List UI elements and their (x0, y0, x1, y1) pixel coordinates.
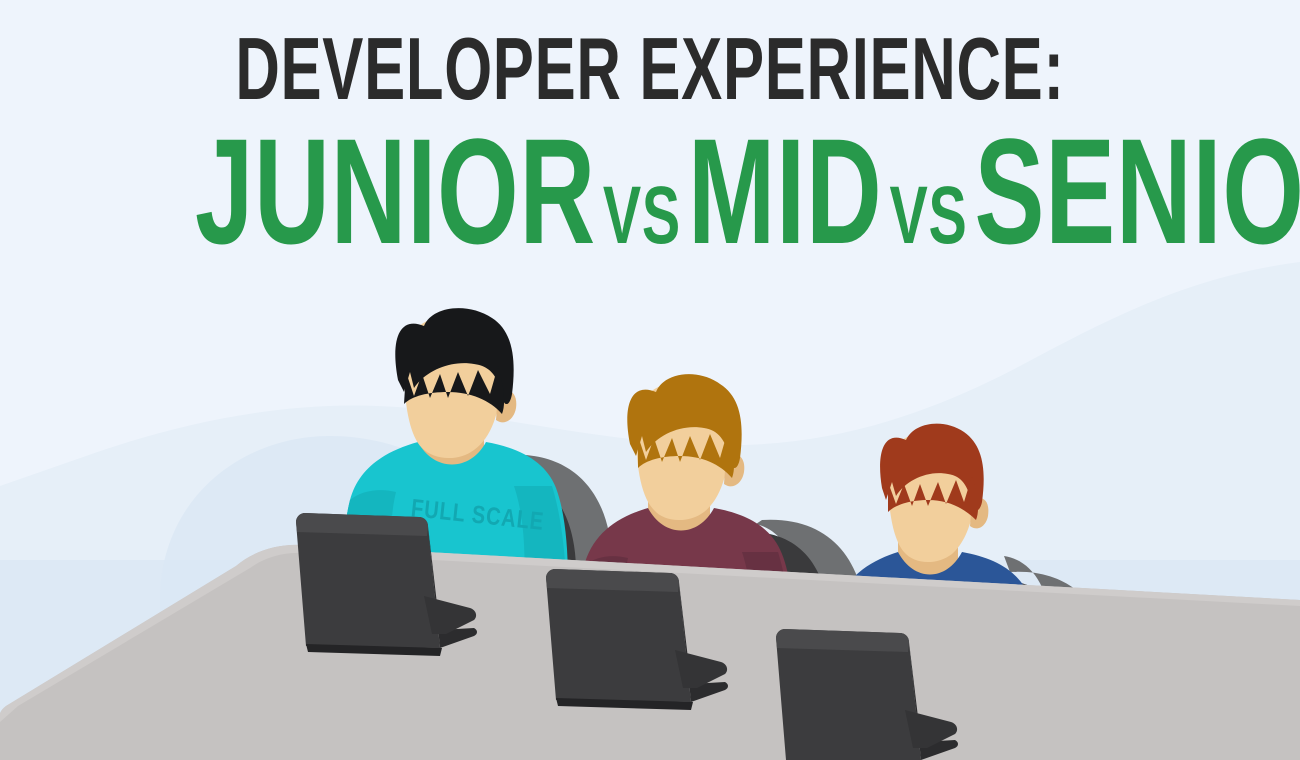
infographic-hero-banner: FULL SCALE (0, 0, 1300, 760)
developers-scene: FULL SCALE (0, 0, 1300, 760)
